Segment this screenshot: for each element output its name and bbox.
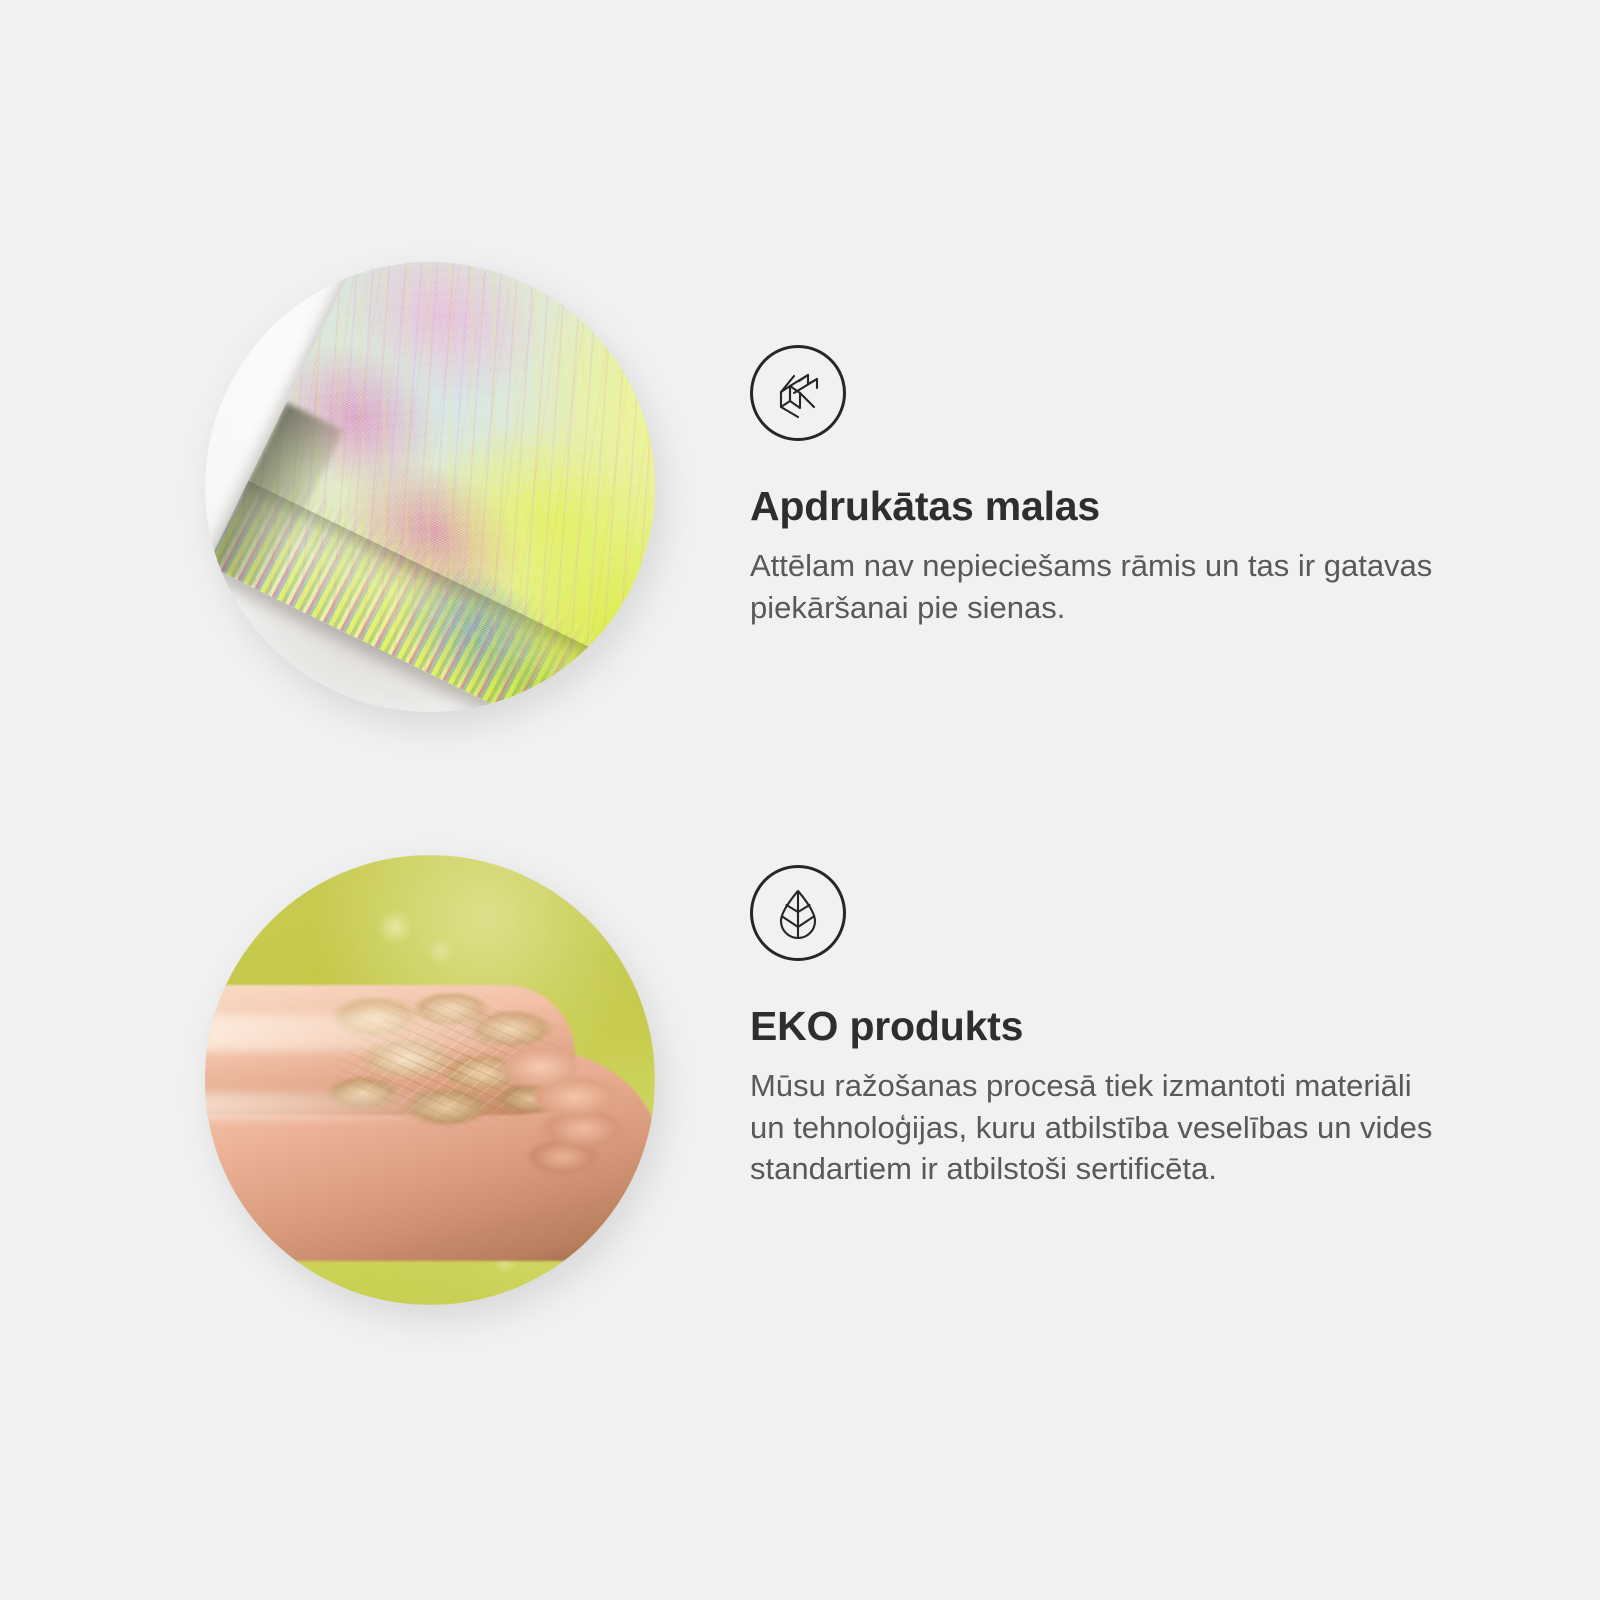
wrapped-canvas-edge-icon — [750, 345, 846, 441]
feature-text-eco-product: EKO produkts Mūsu ražošanas procesā tiek… — [750, 865, 1490, 1190]
feature-panel: Apdrukātas malas Attēlam nav nepieciešam… — [0, 0, 1600, 1600]
hand-highlight-lower — [205, 1093, 465, 1119]
canvas-print-corner-photo — [205, 262, 655, 712]
feature-description: Attēlam nav nepieciešams rāmis un tas ir… — [750, 545, 1450, 628]
feature-title: Apdrukātas malas — [750, 484, 1490, 529]
wrapped-canvas-edge-glyph — [768, 363, 828, 423]
feature-description: Mūsu ražošanas procesā tiek izmantoti ma… — [750, 1065, 1450, 1190]
leaf-glyph — [769, 884, 827, 942]
hands-holding-wood-chips-photo — [205, 855, 655, 1305]
feature-photo-printed-edges — [205, 262, 655, 712]
leaf-icon — [750, 865, 846, 961]
hand-highlight-upper — [205, 1015, 525, 1051]
feature-text-printed-edges: Apdrukātas malas Attēlam nav nepieciešam… — [750, 345, 1490, 628]
fingers — [501, 1037, 655, 1187]
feature-photo-eco-product — [205, 855, 655, 1305]
feature-title: EKO produkts — [750, 1004, 1490, 1049]
